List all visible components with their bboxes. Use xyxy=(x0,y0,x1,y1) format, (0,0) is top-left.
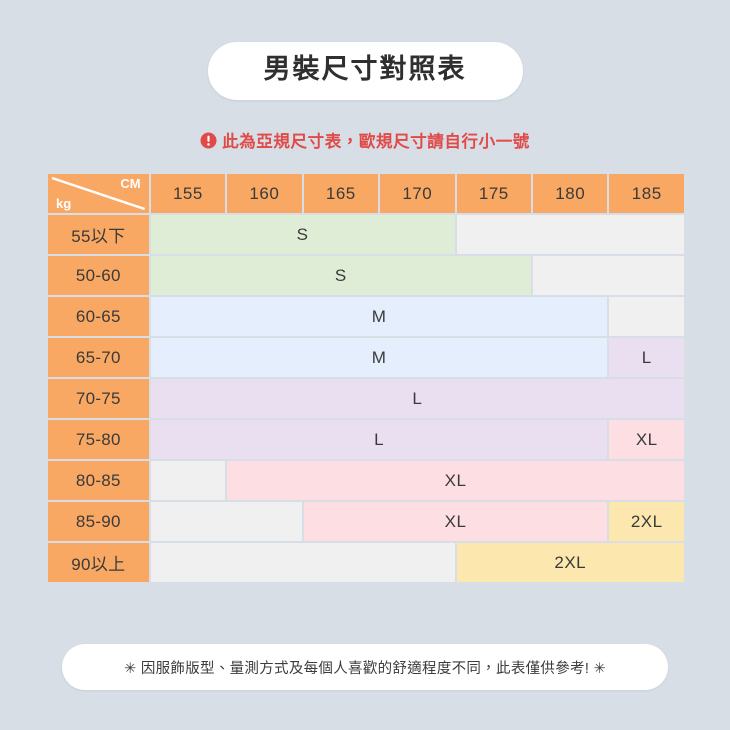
size-cell-label: L xyxy=(642,348,652,367)
table-row: 90以上2XL xyxy=(48,543,684,582)
row-header-6: 80-85 xyxy=(48,461,149,500)
size-table-container: CM kg 155 160 165 170 175 180 185 55以下S5… xyxy=(46,172,686,584)
corner-axis-cell: CM kg xyxy=(48,174,149,213)
column-header-185: 185 xyxy=(609,174,684,213)
size-cell-empty xyxy=(533,256,684,295)
exclamation-circle-icon xyxy=(200,132,217,149)
table-head: CM kg 155 160 165 170 175 180 185 xyxy=(48,174,684,213)
size-cell-2xl: 2XL xyxy=(457,543,684,582)
size-cell-s: S xyxy=(151,256,531,295)
size-table: CM kg 155 160 165 170 175 180 185 55以下S5… xyxy=(46,172,686,584)
row-header-8: 90以上 xyxy=(48,543,149,582)
size-cell-empty xyxy=(457,215,684,254)
table-row: 85-90XL2XL xyxy=(48,502,684,541)
table-body: 55以下S50-60S60-65M65-70ML70-75L75-80LXL80… xyxy=(48,215,684,582)
warning-text: 此為亞規尺寸表，歐規尺寸請自行小一號 xyxy=(222,128,530,152)
size-cell-label: L xyxy=(374,430,384,449)
corner-kg-label: kg xyxy=(56,197,71,210)
table-row: 75-80LXL xyxy=(48,420,684,459)
size-cell-m: M xyxy=(151,297,608,336)
column-header-160: 160 xyxy=(227,174,301,213)
row-header-2: 60-65 xyxy=(48,297,149,336)
table-row: 80-85XL xyxy=(48,461,684,500)
column-header-180: 180 xyxy=(533,174,607,213)
column-header-170: 170 xyxy=(380,174,454,213)
size-cell-xl: XL xyxy=(609,420,684,459)
title-pill: 男裝尺寸對照表 xyxy=(208,42,523,100)
size-cell-empty xyxy=(151,502,302,541)
size-cell-label: XL xyxy=(636,430,658,449)
size-cell-xl: XL xyxy=(227,461,684,500)
size-cell-label: XL xyxy=(445,512,467,531)
page-title: 男裝尺寸對照表 xyxy=(264,55,467,85)
table-row: 60-65M xyxy=(48,297,684,336)
warning-banner: 此為亞規尺寸表，歐規尺寸請自行小一號 xyxy=(0,128,730,152)
size-cell-empty xyxy=(151,461,225,500)
row-header-4: 70-75 xyxy=(48,379,149,418)
size-cell-m: M xyxy=(151,338,608,377)
size-cell-l: L xyxy=(609,338,684,377)
table-row: 65-70ML xyxy=(48,338,684,377)
row-header-5: 75-80 xyxy=(48,420,149,459)
size-cell-label: M xyxy=(372,348,387,367)
column-header-165: 165 xyxy=(304,174,378,213)
row-header-7: 85-90 xyxy=(48,502,149,541)
size-cell-empty xyxy=(151,543,455,582)
size-cell-empty xyxy=(609,297,684,336)
footer-note-text: ✳ 因服飾版型、量測方式及每個人喜歡的舒適程度不同，此表僅供參考! ✳ xyxy=(124,657,606,678)
row-header-1: 50-60 xyxy=(48,256,149,295)
size-cell-2xl: 2XL xyxy=(609,502,684,541)
size-cell-l: L xyxy=(151,379,684,418)
size-chart-page: 男裝尺寸對照表 此為亞規尺寸表，歐規尺寸請自行小一號 xyxy=(0,0,730,730)
table-row: 70-75L xyxy=(48,379,684,418)
size-cell-label: 2XL xyxy=(631,512,663,531)
footer-note: ✳ 因服飾版型、量測方式及每個人喜歡的舒適程度不同，此表僅供參考! ✳ xyxy=(62,644,668,690)
column-header-155: 155 xyxy=(151,174,225,213)
row-header-3: 65-70 xyxy=(48,338,149,377)
corner-cm-label: CM xyxy=(120,177,140,190)
size-cell-label: S xyxy=(335,266,347,285)
column-header-175: 175 xyxy=(457,174,531,213)
size-cell-s: S xyxy=(151,215,455,254)
size-cell-label: S xyxy=(297,225,309,244)
size-cell-label: XL xyxy=(445,471,467,490)
size-cell-label: M xyxy=(372,307,387,326)
size-cell-label: 2XL xyxy=(554,553,586,572)
title-container: 男裝尺寸對照表 xyxy=(0,42,730,100)
table-row: 50-60S xyxy=(48,256,684,295)
table-row: 55以下S xyxy=(48,215,684,254)
size-cell-xl: XL xyxy=(304,502,608,541)
size-cell-label: L xyxy=(412,389,422,408)
size-cell-l: L xyxy=(151,420,608,459)
table-header-row: CM kg 155 160 165 170 175 180 185 xyxy=(48,174,684,213)
row-header-0: 55以下 xyxy=(48,215,149,254)
